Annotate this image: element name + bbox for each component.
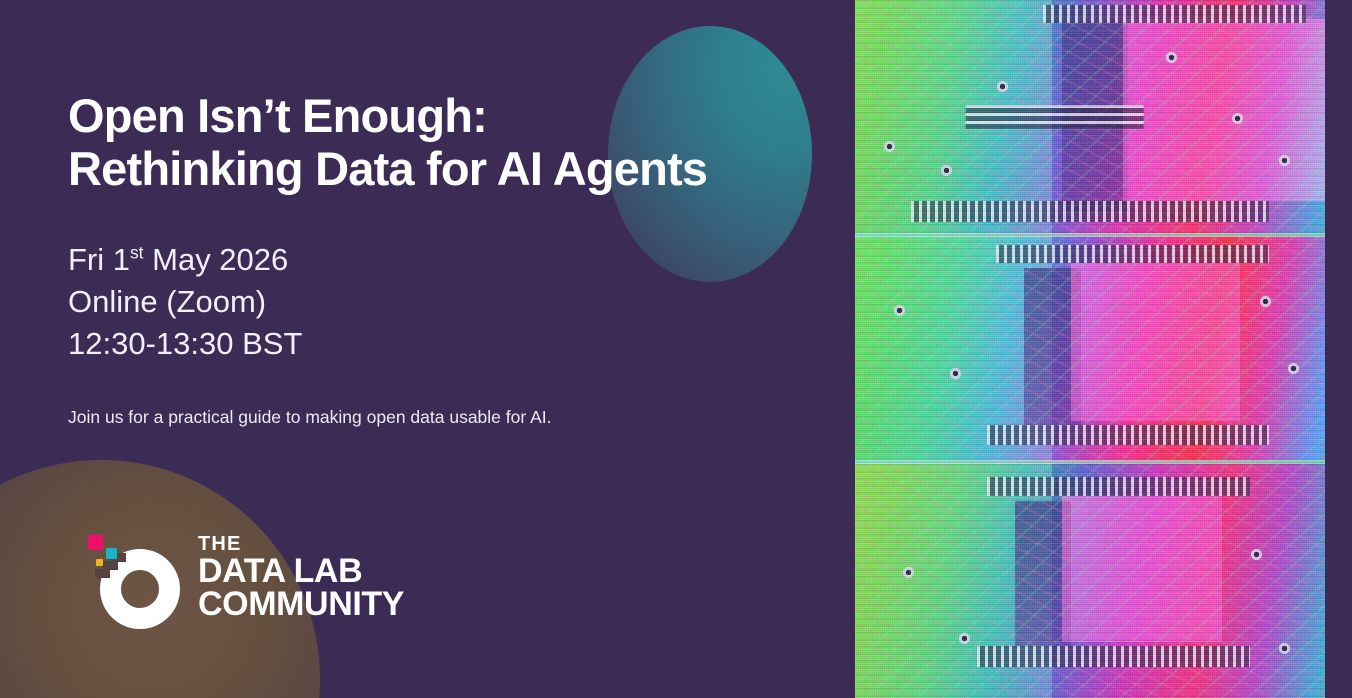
logo-yellow-square-icon bbox=[96, 559, 103, 566]
board-traces-horizontal bbox=[855, 0, 1325, 234]
event-date-prefix: Fri 1 bbox=[68, 242, 130, 277]
title-line-1: Open Isn’t Enough: bbox=[68, 90, 808, 143]
event-banner: Open Isn’t Enough: Rethinking Data for A… bbox=[0, 0, 1352, 698]
event-tagline: Join us for a practical guide to making … bbox=[68, 407, 552, 428]
tile-seam bbox=[855, 233, 1325, 237]
logo-line-community: COMMUNITY bbox=[198, 588, 404, 621]
circuit-tile-top bbox=[855, 0, 1325, 234]
board-via bbox=[949, 367, 962, 380]
board-traces-horizontal bbox=[855, 236, 1325, 461]
board-via bbox=[1278, 642, 1291, 655]
event-date-suffix: May 2026 bbox=[144, 242, 289, 277]
board-traces-horizontal bbox=[855, 463, 1325, 698]
circuit-board-photo bbox=[855, 0, 1325, 698]
organisation-logo: THE DATA LAB COMMUNITY bbox=[68, 525, 488, 645]
board-via bbox=[1250, 548, 1263, 561]
board-via bbox=[1259, 295, 1272, 308]
logo-wordmark: THE DATA LAB COMMUNITY bbox=[198, 533, 404, 621]
logo-line-data-lab: DATA LAB bbox=[198, 555, 404, 588]
logo-teal-square-icon bbox=[106, 548, 117, 559]
tile-seam bbox=[855, 460, 1325, 464]
logo-pink-square-icon bbox=[88, 535, 103, 550]
circuit-tile-bottom bbox=[855, 463, 1325, 698]
board-via bbox=[893, 304, 906, 317]
board-via bbox=[940, 164, 953, 177]
logo-ring-icon bbox=[86, 535, 194, 643]
circuit-tile-middle bbox=[855, 236, 1325, 461]
event-time: 12:30-13:30 BST bbox=[68, 323, 302, 365]
page-title: Open Isn’t Enough: Rethinking Data for A… bbox=[68, 90, 808, 195]
event-date-ordinal: st bbox=[130, 243, 144, 263]
content-column: Open Isn’t Enough: Rethinking Data for A… bbox=[68, 0, 828, 698]
logo-notch-step-3 bbox=[95, 569, 110, 578]
title-line-2: Rethinking Data for AI Agents bbox=[68, 143, 808, 196]
event-date: Fri 1st May 2026 bbox=[68, 239, 302, 281]
board-via bbox=[996, 80, 1009, 93]
event-details: Fri 1st May 2026 Online (Zoom) 12:30-13:… bbox=[68, 239, 302, 365]
event-location: Online (Zoom) bbox=[68, 281, 302, 323]
